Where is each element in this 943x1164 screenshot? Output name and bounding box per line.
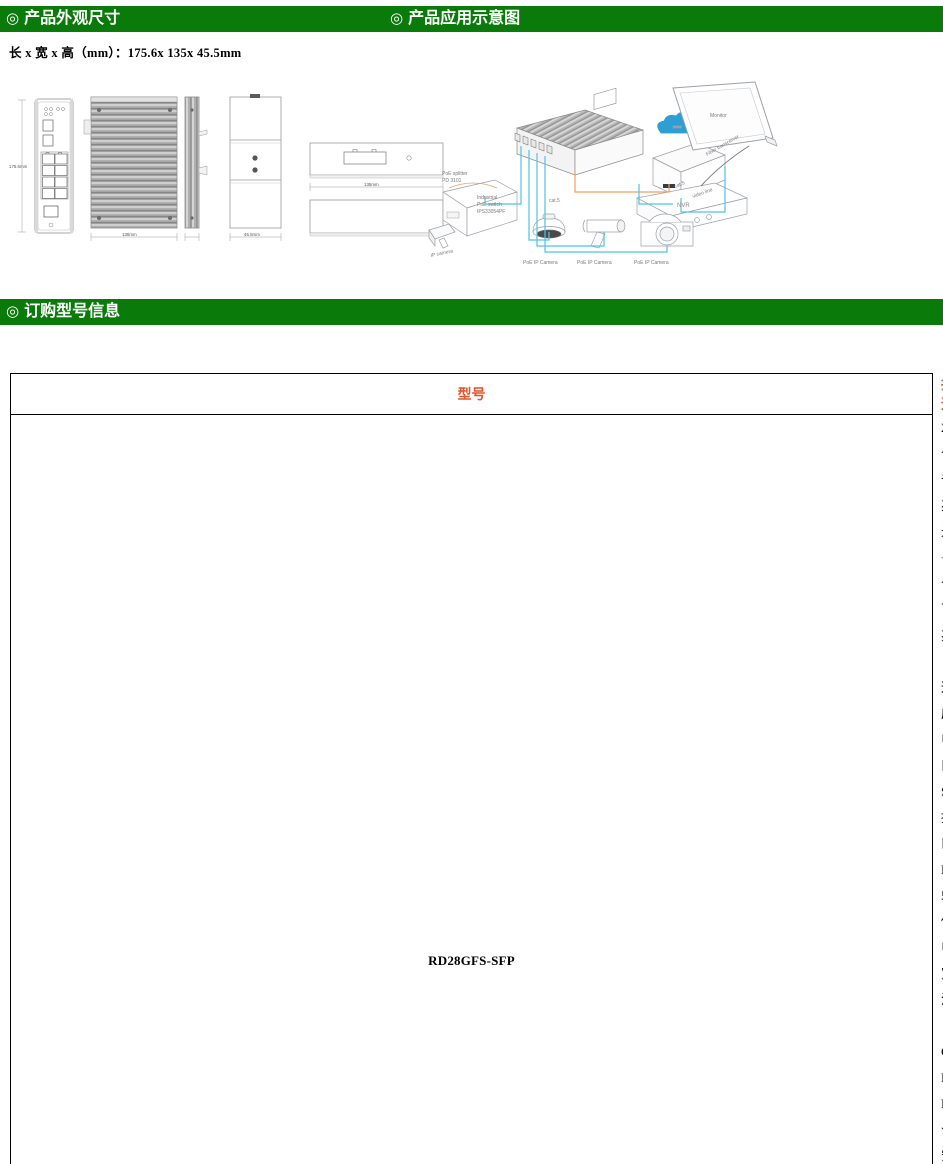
table-header-row: 型号 描述 [11, 374, 933, 415]
dimension-label-height: 175.6mm [9, 164, 28, 169]
label-monitor: Monitor [710, 113, 727, 119]
ip-camera [429, 224, 455, 248]
label-poe-ip-camera-2: PoE IP Camera [577, 260, 612, 266]
poe-splitter [443, 180, 517, 236]
drawing-back-view [84, 97, 177, 228]
industrial-poe-switch [515, 88, 643, 175]
bullet-icon: ◎ [0, 299, 19, 325]
ordering-information-table: 型号 描述 RD28GFS-SFP 2 个千兆光+8 个百兆自适应电口、SFP … [10, 373, 933, 1164]
section-title-dimensions: 产品外观尺寸 [19, 6, 120, 32]
label-nvr: NVR [677, 203, 690, 209]
label-poe-ip-camera-1: PoE IP Camera [523, 260, 558, 266]
dimension-label-depth: 45.5mm [244, 232, 260, 237]
label-ip-camera: IP camera [430, 248, 454, 259]
dimension-label-width: 135mm [122, 232, 137, 237]
application-diagram: www [425, 80, 943, 285]
section-header-dimensions: ◎ 产品外观尺寸 [0, 6, 384, 32]
drawing-front-view [35, 99, 73, 233]
dimension-caption: 长 x 宽 x 高（mm）：175.6x 135x 45.5mm [9, 42, 242, 61]
svg-text:www: www [673, 124, 682, 129]
label-poe-ip-camera-3: PoE IP Camera [634, 260, 669, 266]
label-cat5-center: cat.5 [549, 198, 560, 204]
cell-model-main: RD28GFS-SFP [11, 415, 933, 1164]
bullet-icon: ◎ [384, 6, 403, 32]
section-header-ordering: ◎ 订购型号信息 [0, 299, 943, 325]
drawing-top-views [310, 143, 443, 236]
section-title-application: 产品应用示意图 [403, 6, 520, 32]
drawing-bottom-view [230, 94, 281, 228]
label-poe-splitter-line2: PD 3101 [442, 178, 462, 184]
drawing-side-view [185, 97, 207, 228]
label-industrial-poe-switch-line2: PoE switch [477, 202, 502, 208]
label-industrial-poe-switch-line1: Industrial [477, 195, 497, 201]
bullet-icon: ◎ [0, 6, 19, 32]
dimension-label-top-width: 135mm [364, 182, 379, 187]
table-header-model: 型号 [11, 374, 933, 415]
label-industrial-poe-switch-line3: IPS33054PF [477, 209, 505, 215]
mechanical-drawings: 175.6mm [0, 80, 470, 280]
table-row: RD28GFS-SFP 2 个千兆光+8 个百兆自适应电口、SFP 接口、DC1… [11, 415, 933, 1164]
section-title-ordering: 订购型号信息 [19, 299, 120, 325]
section-header-application: ◎ 产品应用示意图 [384, 6, 943, 32]
label-poe-splitter-line1: PoE splitter [442, 171, 468, 177]
